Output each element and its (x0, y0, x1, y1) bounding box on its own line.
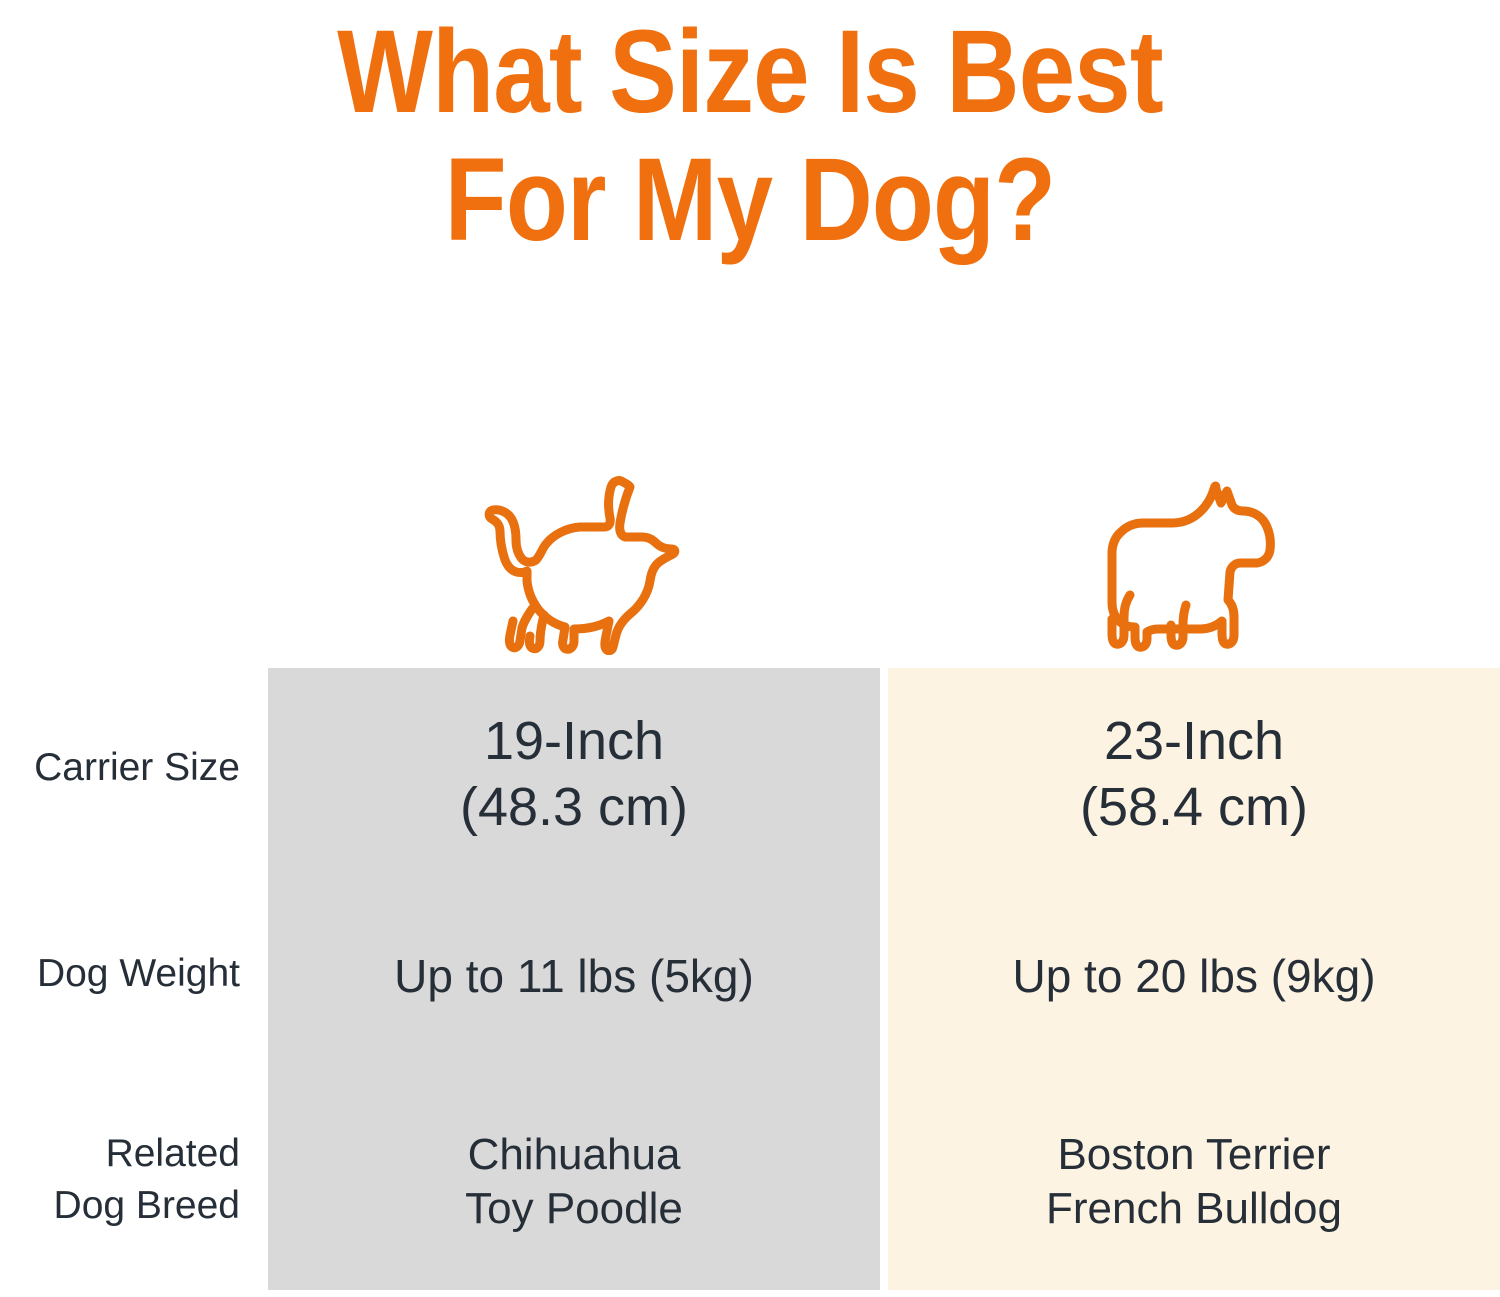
bulldog-dog-icon (1088, 475, 1298, 655)
page-title: What Size Is Best For My Dog? (0, 8, 1500, 264)
breed-23-inch-line-1: Boston Terrier (888, 1128, 1500, 1182)
page-title-line-1: What Size Is Best (105, 8, 1395, 136)
cell-carrier-size-19-inch: 19-Inch (48.3 cm) (268, 708, 880, 840)
row-label-carrier-size-text: Carrier Size (34, 746, 240, 789)
dog-carrier-size-comparison-infographic: What Size Is Best For My Dog? Carrier Si… (0, 0, 1500, 1297)
row-label-related-dog-breed: Related Dog Breed (0, 1128, 240, 1232)
carrier-size-23-inch-value: 23-Inch (888, 708, 1500, 774)
cell-breed-23-inch: Boston Terrier French Bulldog (888, 1128, 1500, 1236)
cell-carrier-size-23-inch: 23-Inch (58.4 cm) (888, 708, 1500, 840)
cell-dog-weight-19-inch: Up to 11 lbs (5kg) (268, 948, 880, 1004)
row-label-dog-weight-text: Dog Weight (37, 952, 240, 995)
row-label-carrier-size: Carrier Size (0, 742, 240, 794)
breed-23-inch-line-2: French Bulldog (888, 1182, 1500, 1236)
breed-19-inch-line-2: Toy Poodle (268, 1182, 880, 1236)
chihuahua-dog-icon (480, 475, 680, 655)
carrier-size-19-inch-value: 19-Inch (268, 708, 880, 774)
row-label-related-line-2: Dog Breed (0, 1180, 240, 1232)
dog-weight-19-inch-value: Up to 11 lbs (5kg) (268, 948, 880, 1004)
breed-19-inch-line-1: Chihuahua (268, 1128, 880, 1182)
cell-breed-19-inch: Chihuahua Toy Poodle (268, 1128, 880, 1236)
row-label-dog-weight: Dog Weight (0, 948, 240, 1000)
row-label-related-line-1: Related (0, 1128, 240, 1180)
carrier-size-19-inch-metric: (48.3 cm) (268, 774, 880, 840)
cell-dog-weight-23-inch: Up to 20 lbs (9kg) (888, 948, 1500, 1004)
carrier-size-23-inch-metric: (58.4 cm) (888, 774, 1500, 840)
dog-weight-23-inch-value: Up to 20 lbs (9kg) (888, 948, 1500, 1004)
page-title-line-2: For My Dog? (105, 136, 1395, 264)
